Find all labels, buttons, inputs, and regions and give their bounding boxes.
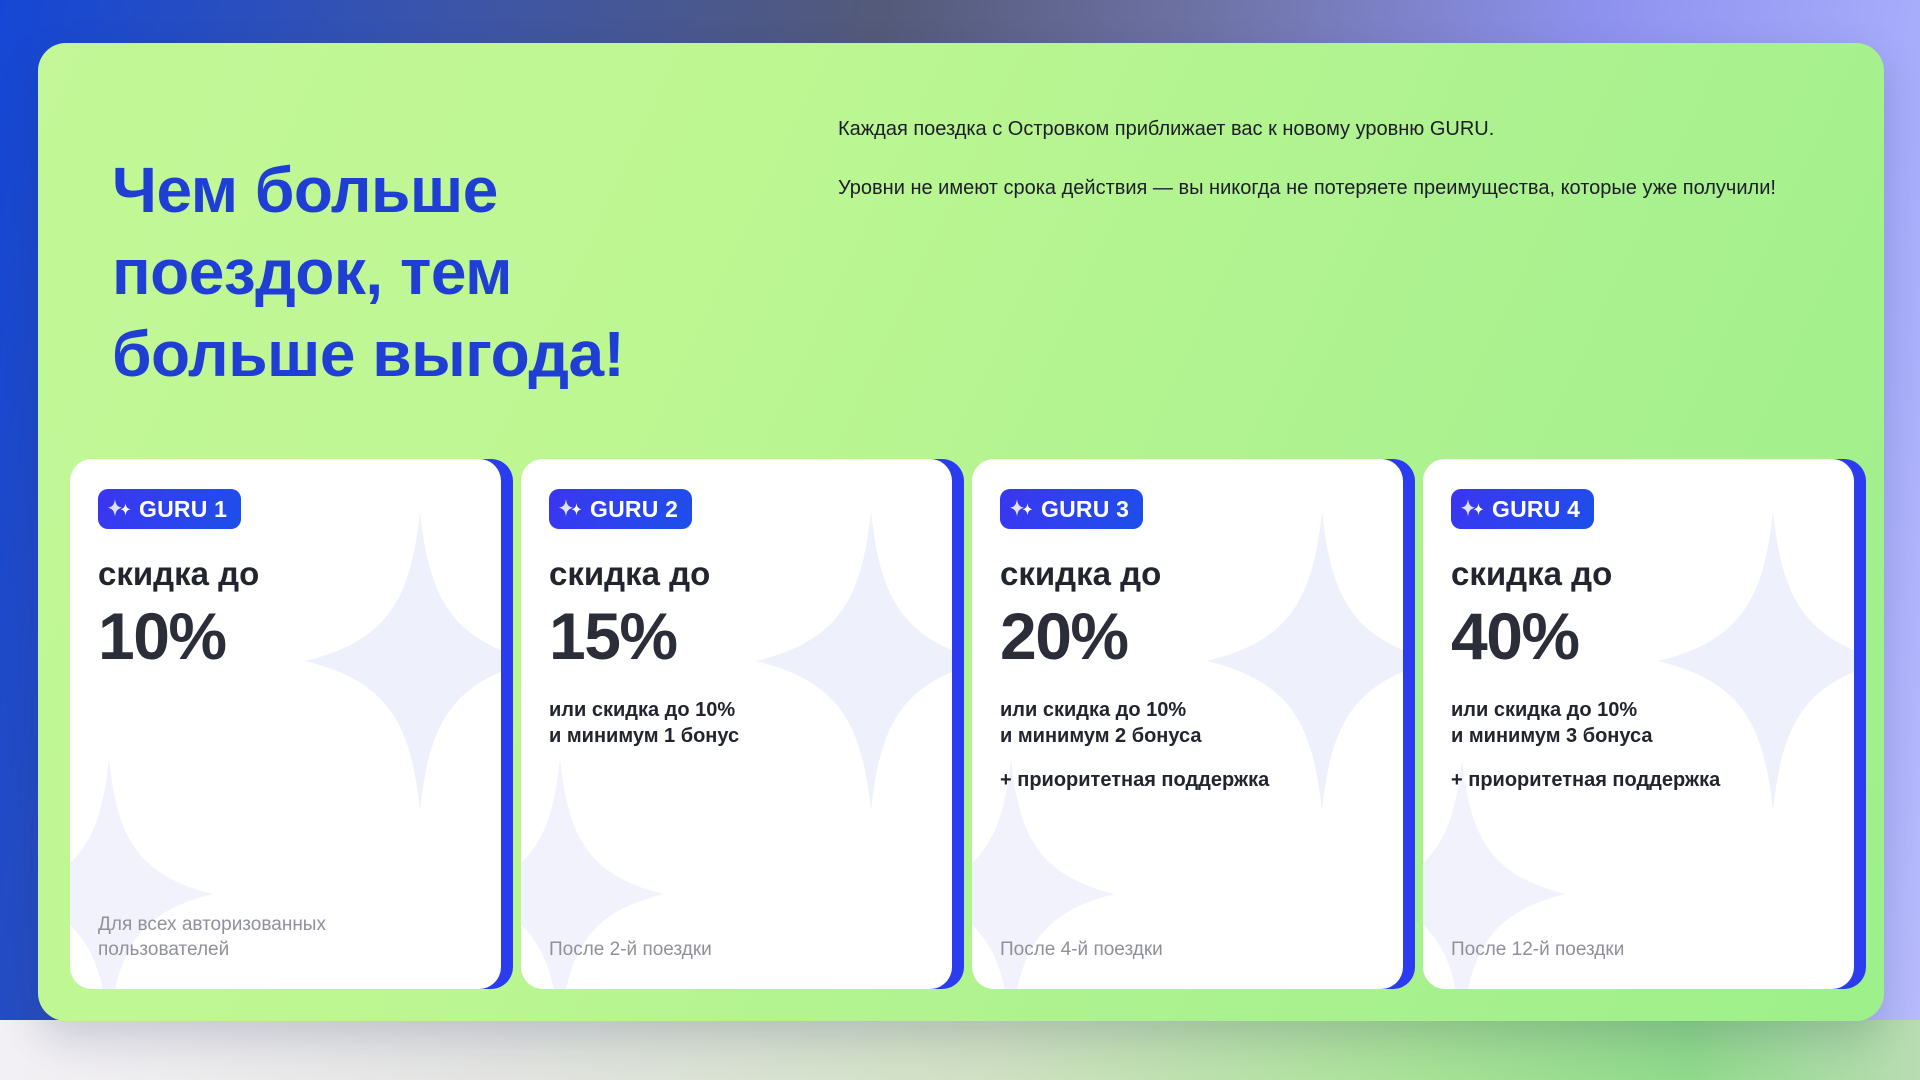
sparkles-icon [559,497,585,521]
card-discount-value: 10% [98,602,473,671]
card-alternative-benefit: или скидка до 10% и минимум 1 бонус [549,697,924,749]
page-lower-band [0,1020,1920,1080]
card-discount-value: 15% [549,602,924,671]
card-discount-label: скидка до [549,557,924,592]
card-discount-value: 40% [1451,602,1826,671]
guru-level-badge: GURU 1 [98,489,241,529]
promo-paragraph-1: Каждая поездка с Островком приближает ва… [838,115,1828,144]
guru-level-label: GURU 1 [139,498,227,521]
card-surface[interactable]: GURU 1 скидка до 10% Для всех авторизова… [70,459,501,989]
card-condition-note: После 12-й поездки [1451,937,1826,963]
loyalty-promo-page: Чем больше поездок, тем больше выгода! К… [0,0,1920,1080]
card-discount-value: 20% [1000,602,1375,671]
guru-level-label: GURU 4 [1492,498,1580,521]
guru-level-badge: GURU 4 [1451,489,1594,529]
tier-card-guru-3[interactable]: GURU 3 скидка до 20% или скидка до 10% и… [972,459,1403,989]
card-condition-note: После 2-й поездки [549,937,924,963]
promo-panel: Чем больше поездок, тем больше выгода! К… [38,43,1884,1021]
card-discount-label: скидка до [98,557,473,592]
promo-paragraph-2: Уровни не имеют срока действия — вы нико… [838,174,1828,203]
card-discount-label: скидка до [1000,557,1375,592]
card-extra-benefit: + приоритетная поддержка [1000,767,1375,793]
card-alternative-benefit: или скидка до 10% и минимум 3 бонуса [1451,697,1826,749]
promo-header: Чем больше поездок, тем больше выгода! К… [38,43,1884,443]
sparkles-icon [108,497,134,521]
sparkles-icon [1010,497,1036,521]
guru-level-label: GURU 3 [1041,498,1129,521]
card-surface[interactable]: GURU 3 скидка до 20% или скидка до 10% и… [972,459,1403,989]
guru-level-badge: GURU 2 [549,489,692,529]
promo-description: Каждая поездка с Островком приближает ва… [838,115,1828,203]
tier-card-list: GURU 1 скидка до 10% Для всех авторизова… [70,459,1854,989]
card-condition-note: После 4-й поездки [1000,937,1375,963]
tier-card-guru-1[interactable]: GURU 1 скидка до 10% Для всех авторизова… [70,459,501,989]
card-surface[interactable]: GURU 4 скидка до 40% или скидка до 10% и… [1423,459,1854,989]
card-extra-benefit: + приоритетная поддержка [1451,767,1826,793]
card-discount-label: скидка до [1451,557,1826,592]
guru-level-label: GURU 2 [590,498,678,521]
guru-level-badge: GURU 3 [1000,489,1143,529]
card-condition-note: Для всех авторизованных пользователей [98,912,473,963]
page-title: Чем больше поездок, тем больше выгода! [112,150,812,396]
tier-card-guru-4[interactable]: GURU 4 скидка до 40% или скидка до 10% и… [1423,459,1854,989]
tier-card-guru-2[interactable]: GURU 2 скидка до 15% или скидка до 10% и… [521,459,952,989]
sparkles-icon [1461,497,1487,521]
card-alternative-benefit: или скидка до 10% и минимум 2 бонуса [1000,697,1375,749]
card-surface[interactable]: GURU 2 скидка до 15% или скидка до 10% и… [521,459,952,989]
